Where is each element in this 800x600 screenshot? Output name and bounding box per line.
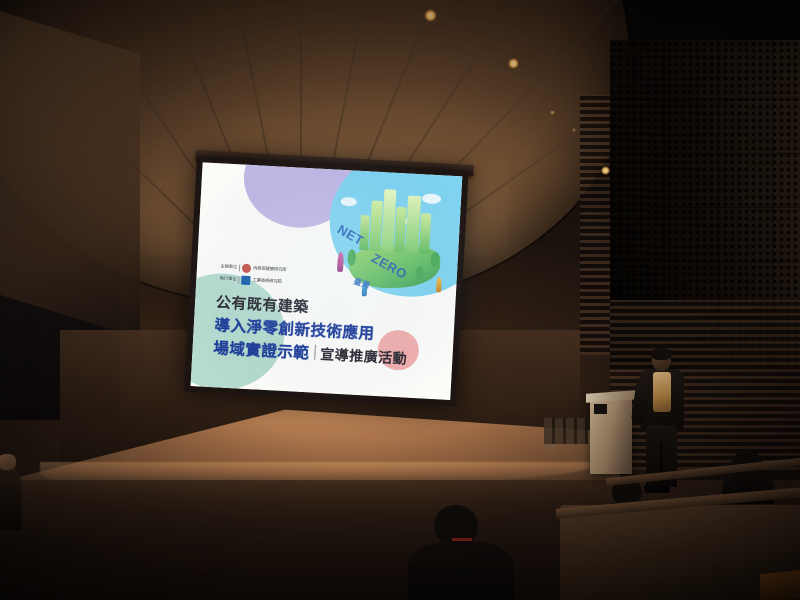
- audience-body: [408, 541, 514, 600]
- slide-title-line-3-secondary: 宣導推廣活動: [320, 344, 408, 369]
- title-divider: [314, 344, 316, 359]
- speaker-hair: [651, 348, 672, 360]
- screen-surface: NET ZERO 臺灣 主辦單位 內政部建築研究所 執行單位: [191, 162, 463, 400]
- audience-member-front: [406, 505, 516, 600]
- ceiling-soffit-panel: [0, 8, 140, 338]
- organiser-name-host: 內政部建築研究所: [253, 266, 287, 273]
- projection-screen: NET ZERO 臺灣 主辦單位 內政部建築研究所 執行單位: [184, 156, 468, 406]
- presentation-slide: NET ZERO 臺灣 主辦單位 內政部建築研究所 執行單位: [191, 162, 463, 400]
- ceiling-spotlight-4: [550, 110, 555, 115]
- cloud-icon: [341, 197, 357, 207]
- audience-body: [0, 466, 22, 530]
- slide-title-block: 公有既有建築 導入淨零創新技術應用 場域實證示範 宣導推廣活動: [213, 291, 445, 370]
- organiser-label-host: 主辦單位: [220, 264, 237, 270]
- audience-hand: [0, 454, 16, 470]
- tree-icon: [347, 250, 356, 265]
- logo-divider: [239, 264, 240, 271]
- itri-logo-icon: [241, 275, 250, 284]
- screenshot-root: NET ZERO 臺灣 主辦單位 內政部建築研究所 執行單位: [0, 0, 800, 600]
- audience-member-left-edge: [0, 452, 24, 532]
- speaker-shirt: [653, 372, 671, 412]
- av-equipment-box-small: [546, 444, 556, 450]
- tree-icon: [431, 252, 440, 267]
- organiser-name-executor: 工業技術研究院: [252, 278, 282, 284]
- person-figure-icon: [436, 277, 442, 292]
- podium-control-panel: [594, 404, 607, 414]
- abri-logo-icon: [242, 263, 251, 272]
- ceiling-spotlight-3: [601, 166, 610, 175]
- av-equipment-boxes: [544, 418, 588, 444]
- ceiling-spotlight-2: [508, 58, 519, 69]
- logo-divider: [238, 276, 239, 283]
- organiser-label-executor: 執行單位: [220, 276, 237, 282]
- cloud-icon: [422, 194, 442, 205]
- ceiling-spotlight-1: [424, 9, 437, 22]
- ceiling-spotlight-5: [572, 128, 576, 132]
- railing-accent-strip: [760, 570, 800, 600]
